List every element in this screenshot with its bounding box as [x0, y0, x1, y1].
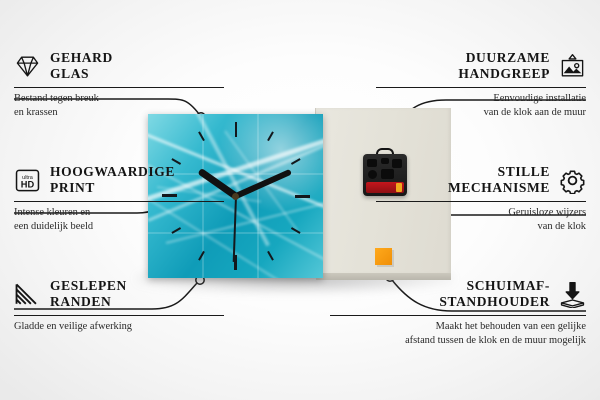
feature-duurzame-handgreep: DUURZAME HANDGREEP Eenvoudige installati…: [376, 50, 586, 119]
feature-title-line2: HANDGREEP: [458, 66, 550, 82]
picture-hanger-icon: [559, 53, 586, 80]
feature-hoogwaardige-print: ultra HD HOOGWAARDIGE PRINT Intense kleu…: [14, 164, 224, 233]
beveled-edge-icon: [14, 281, 41, 308]
clock-tick: [235, 122, 237, 196]
feature-title-line2: RANDEN: [50, 294, 127, 310]
feature-stille-mechanisme: STILLE MECHANISME Geruisloze wijzers van…: [376, 164, 586, 233]
clock-tick: [236, 195, 310, 197]
feature-desc-line2: een duidelijk beeld: [14, 220, 224, 233]
foam-spacer-icon: [559, 281, 586, 308]
divider: [376, 201, 586, 202]
feature-desc-line1: Bestand tegen breuk: [14, 92, 224, 105]
product-infographic: GEHARD GLAS Bestand tegen breuk en krass…: [0, 0, 600, 400]
feature-title-line2: GLAS: [50, 66, 113, 82]
feature-desc-line2: en krassen: [14, 106, 224, 119]
divider: [376, 87, 586, 88]
feature-desc-line1: Gladde en veilige afwerking: [14, 320, 224, 333]
divider: [14, 315, 224, 316]
divider: [14, 87, 224, 88]
feature-title-line2: STANDHOUDER: [439, 294, 550, 310]
feature-desc-line1: Maakt het behouden van een gelijke: [330, 320, 586, 333]
ultra-hd-icon: ultra HD: [14, 167, 41, 194]
feature-title-line1: SCHUIMAF-: [439, 278, 550, 294]
svg-text:HD: HD: [21, 180, 35, 190]
feature-desc-line1: Geruisloze wijzers: [376, 206, 586, 219]
feature-title-line1: GEHARD: [50, 50, 113, 66]
feature-desc-line2: van de klok aan de muur: [376, 106, 586, 119]
feature-title-line1: HOOGWAARDIGE: [50, 164, 175, 180]
feature-title-line1: GESLEPEN: [50, 278, 127, 294]
feature-desc-line2: van de klok: [376, 220, 586, 233]
feature-geslepen-randen: GESLEPEN RANDEN Gladde en veilige afwerk…: [14, 278, 224, 334]
feature-title-line2: MECHANISME: [448, 180, 550, 196]
feature-gehard-glas: GEHARD GLAS Bestand tegen breuk en krass…: [14, 50, 224, 119]
divider: [14, 201, 224, 202]
diamond-icon: [14, 53, 41, 80]
feature-title-line1: STILLE: [448, 164, 550, 180]
feature-schuimafstandhouder: SCHUIMAF- STANDHOUDER Maakt het behouden…: [330, 278, 586, 347]
foam-spacer-pad: [375, 248, 392, 265]
clock-center-hub: [232, 193, 239, 200]
feature-desc-line2: afstand tussen de klok en de muur mogeli…: [330, 334, 586, 347]
divider: [330, 315, 586, 316]
feature-title-line1: DUURZAME: [458, 50, 550, 66]
feature-desc-line1: Eenvoudige installatie: [376, 92, 586, 105]
gear-icon: [559, 167, 586, 194]
feature-title-line2: PRINT: [50, 180, 175, 196]
feature-desc-line1: Intense kleuren en: [14, 206, 224, 219]
